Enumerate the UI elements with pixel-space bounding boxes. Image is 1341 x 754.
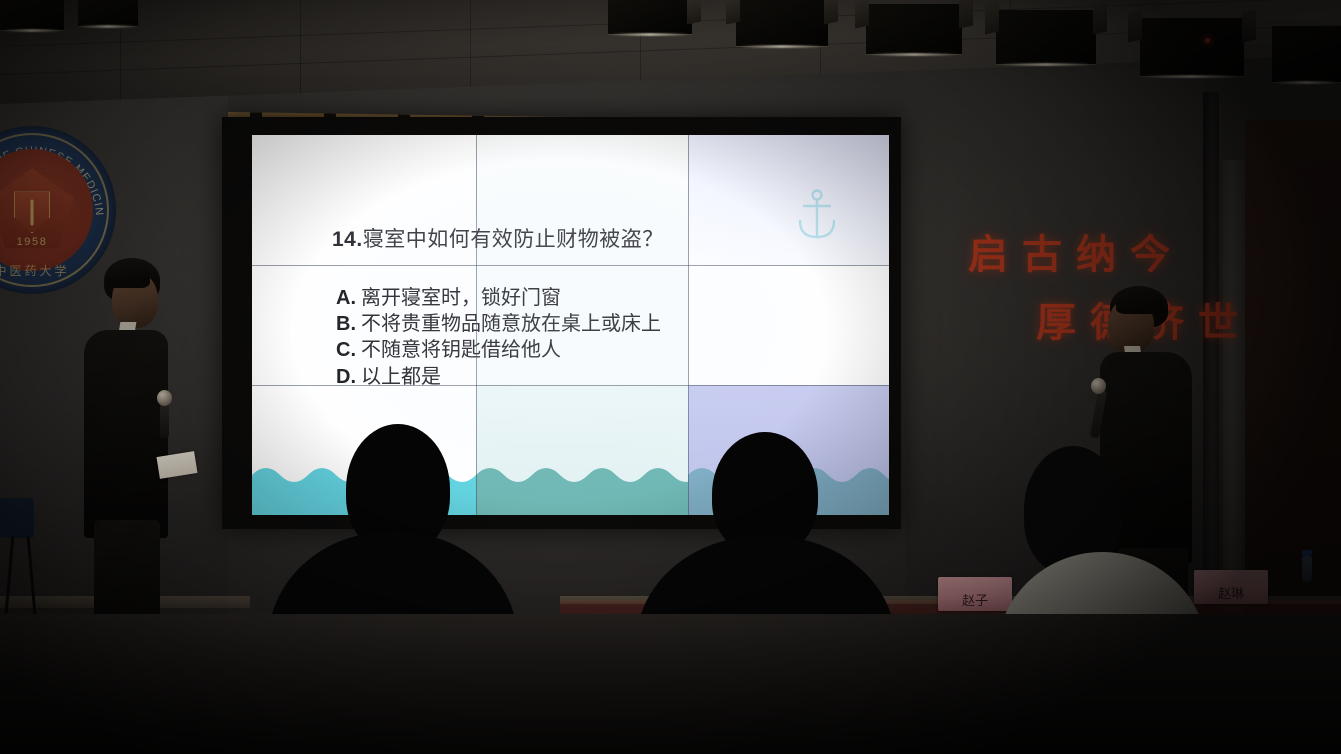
slide-option-a[interactable]: A.离开寝室时，锁好门窗 xyxy=(336,285,661,311)
water-bottle xyxy=(1302,556,1312,582)
wall-corner-strip xyxy=(1223,160,1245,630)
presenter-cue-card xyxy=(157,451,198,479)
wall-calligraphy-line-1: 启古纳今 xyxy=(968,222,1184,280)
stage-light-fixture xyxy=(78,0,138,26)
question-text: 寝室中如何有效防止财物被盗？ xyxy=(363,227,664,251)
option-text-b: 不将贵重物品随意放在桌上或床上 xyxy=(361,311,661,335)
stage-light-fixture xyxy=(608,0,692,34)
option-label-b: B. xyxy=(336,313,356,335)
water-bottle-cap xyxy=(1302,550,1312,556)
screen-panel-seam-horizontal xyxy=(252,265,889,266)
anchor-icon xyxy=(794,187,840,245)
stage-light-fixture xyxy=(1140,18,1244,76)
stage-light-fixture xyxy=(996,10,1096,64)
option-label-a: A. xyxy=(336,287,356,309)
side-chair xyxy=(0,498,56,618)
floor xyxy=(0,614,1341,754)
presenter-hair-front xyxy=(106,260,150,288)
chair-leg xyxy=(5,536,15,614)
emblem-founding-year: 1958 xyxy=(0,236,116,248)
wall-far-right-curtain xyxy=(1245,120,1341,640)
emblem-serpent-icon xyxy=(31,200,34,226)
slide-option-b[interactable]: B.不将贵重物品随意放在桌上或床上 xyxy=(336,311,661,337)
microphone-head[interactable] xyxy=(1091,378,1106,394)
chair-backrest xyxy=(0,498,34,538)
microphone-body[interactable] xyxy=(160,402,169,438)
stage-light-fixture xyxy=(736,0,828,46)
stage-light-fixture xyxy=(0,0,64,30)
screen-panel-seam-horizontal xyxy=(252,385,889,386)
option-text-c: 不随意将钥匙借给他人 xyxy=(361,337,561,361)
slide-options-list: A.离开寝室时，锁好门窗 B.不将贵重物品随意放在桌上或床上 C.不随意将钥匙借… xyxy=(336,285,661,390)
slide-question: 14.寝室中如何有效防止财物被盗？ xyxy=(332,223,664,253)
chair-leg xyxy=(27,536,37,614)
question-number: 14. xyxy=(332,228,363,251)
lecture-hall-scene: VERSITY OF CHINESE MEDICINE 1958 中医药大学 启… xyxy=(0,0,1341,754)
left-presenter xyxy=(82,258,202,658)
screen-panel-tint-right-top xyxy=(688,135,889,265)
stage-light-fixture xyxy=(1272,26,1341,82)
option-label-c: C. xyxy=(336,339,356,361)
light-indicator-led xyxy=(1205,38,1210,43)
stage-light-fixture xyxy=(866,4,962,54)
presenter-torso xyxy=(84,330,168,538)
microphone-head[interactable] xyxy=(157,390,172,406)
option-text-a: 离开寝室时，锁好门窗 xyxy=(361,285,561,309)
option-text-d: 以上都是 xyxy=(361,364,441,388)
slide-option-c[interactable]: C.不随意将钥匙借给他人 xyxy=(336,337,661,363)
